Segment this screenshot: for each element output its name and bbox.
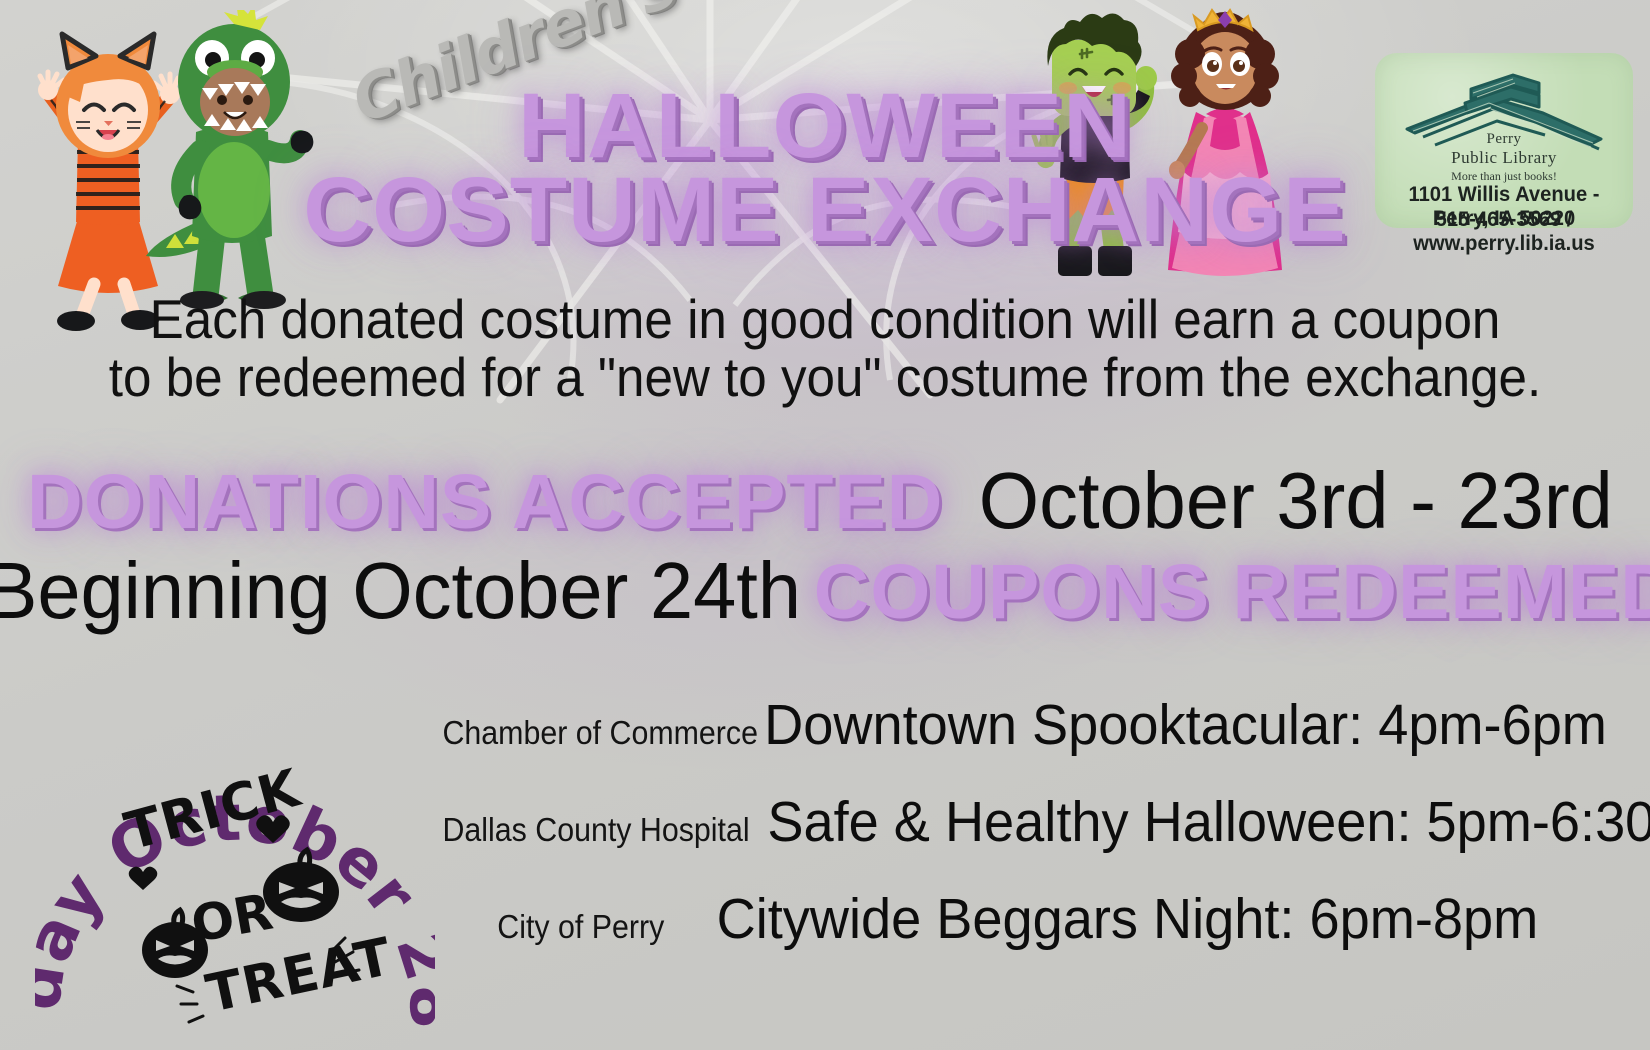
event-row: City of Perry Citywide Beggars Night: 6p…: [430, 886, 1560, 983]
body-text-line-2: to be redeemed for a "new to you" costum…: [58, 345, 1593, 409]
donations-accepted-label: DONATIONS ACCEPTED: [27, 458, 943, 547]
event-organizer: Dallas County Hospital: [442, 811, 729, 849]
library-contact: 515-465-3569 / www.perry.lib.ia.us: [1380, 208, 1628, 256]
library-tagline: More than just books!: [1375, 169, 1633, 184]
coupons-redeemed-row: Beginning October 24th COUPONS REDEEMED: [0, 545, 1650, 637]
coupons-redeemed-date: Beginning October 24th: [0, 545, 801, 637]
library-logo-name-2: Public Library: [1375, 148, 1633, 168]
coupons-redeemed-label: COUPONS REDEEMED: [814, 548, 1650, 637]
body-text-line-1: Each donated costume in good condition w…: [58, 287, 1593, 351]
events-list: Chamber of Commerce Downtown Spooktacula…: [430, 692, 1560, 983]
event-title: Downtown Spooktacular: 4pm-6pm: [764, 692, 1607, 758]
event-row: Chamber of Commerce Downtown Spooktacula…: [430, 692, 1560, 789]
donations-accepted-dates: October 3rd - 23rd: [979, 455, 1613, 547]
event-title: Safe & Healthy Halloween: 5pm-6:30pm: [767, 789, 1650, 855]
poster-canvas: Children's HALLOWEEN COSTUME EXCHANGE Pe…: [0, 0, 1650, 1050]
donations-accepted-row: DONATIONS ACCEPTED October 3rd - 23rd: [0, 455, 1650, 547]
event-title: Citywide Beggars Night: 6pm-8pm: [717, 886, 1539, 952]
library-info-card: Perry Public Library More than just book…: [1375, 53, 1633, 228]
event-organizer: City of Perry: [441, 908, 685, 946]
event-row: Dallas County Hospital Safe & Healthy Ha…: [430, 789, 1560, 886]
event-organizer: Chamber of Commerce: [442, 714, 729, 752]
trick-or-treat-badge: Friday October 28th TRICK OR TREAT: [35, 672, 435, 1050]
library-logo-name-1: Perry: [1375, 131, 1633, 148]
